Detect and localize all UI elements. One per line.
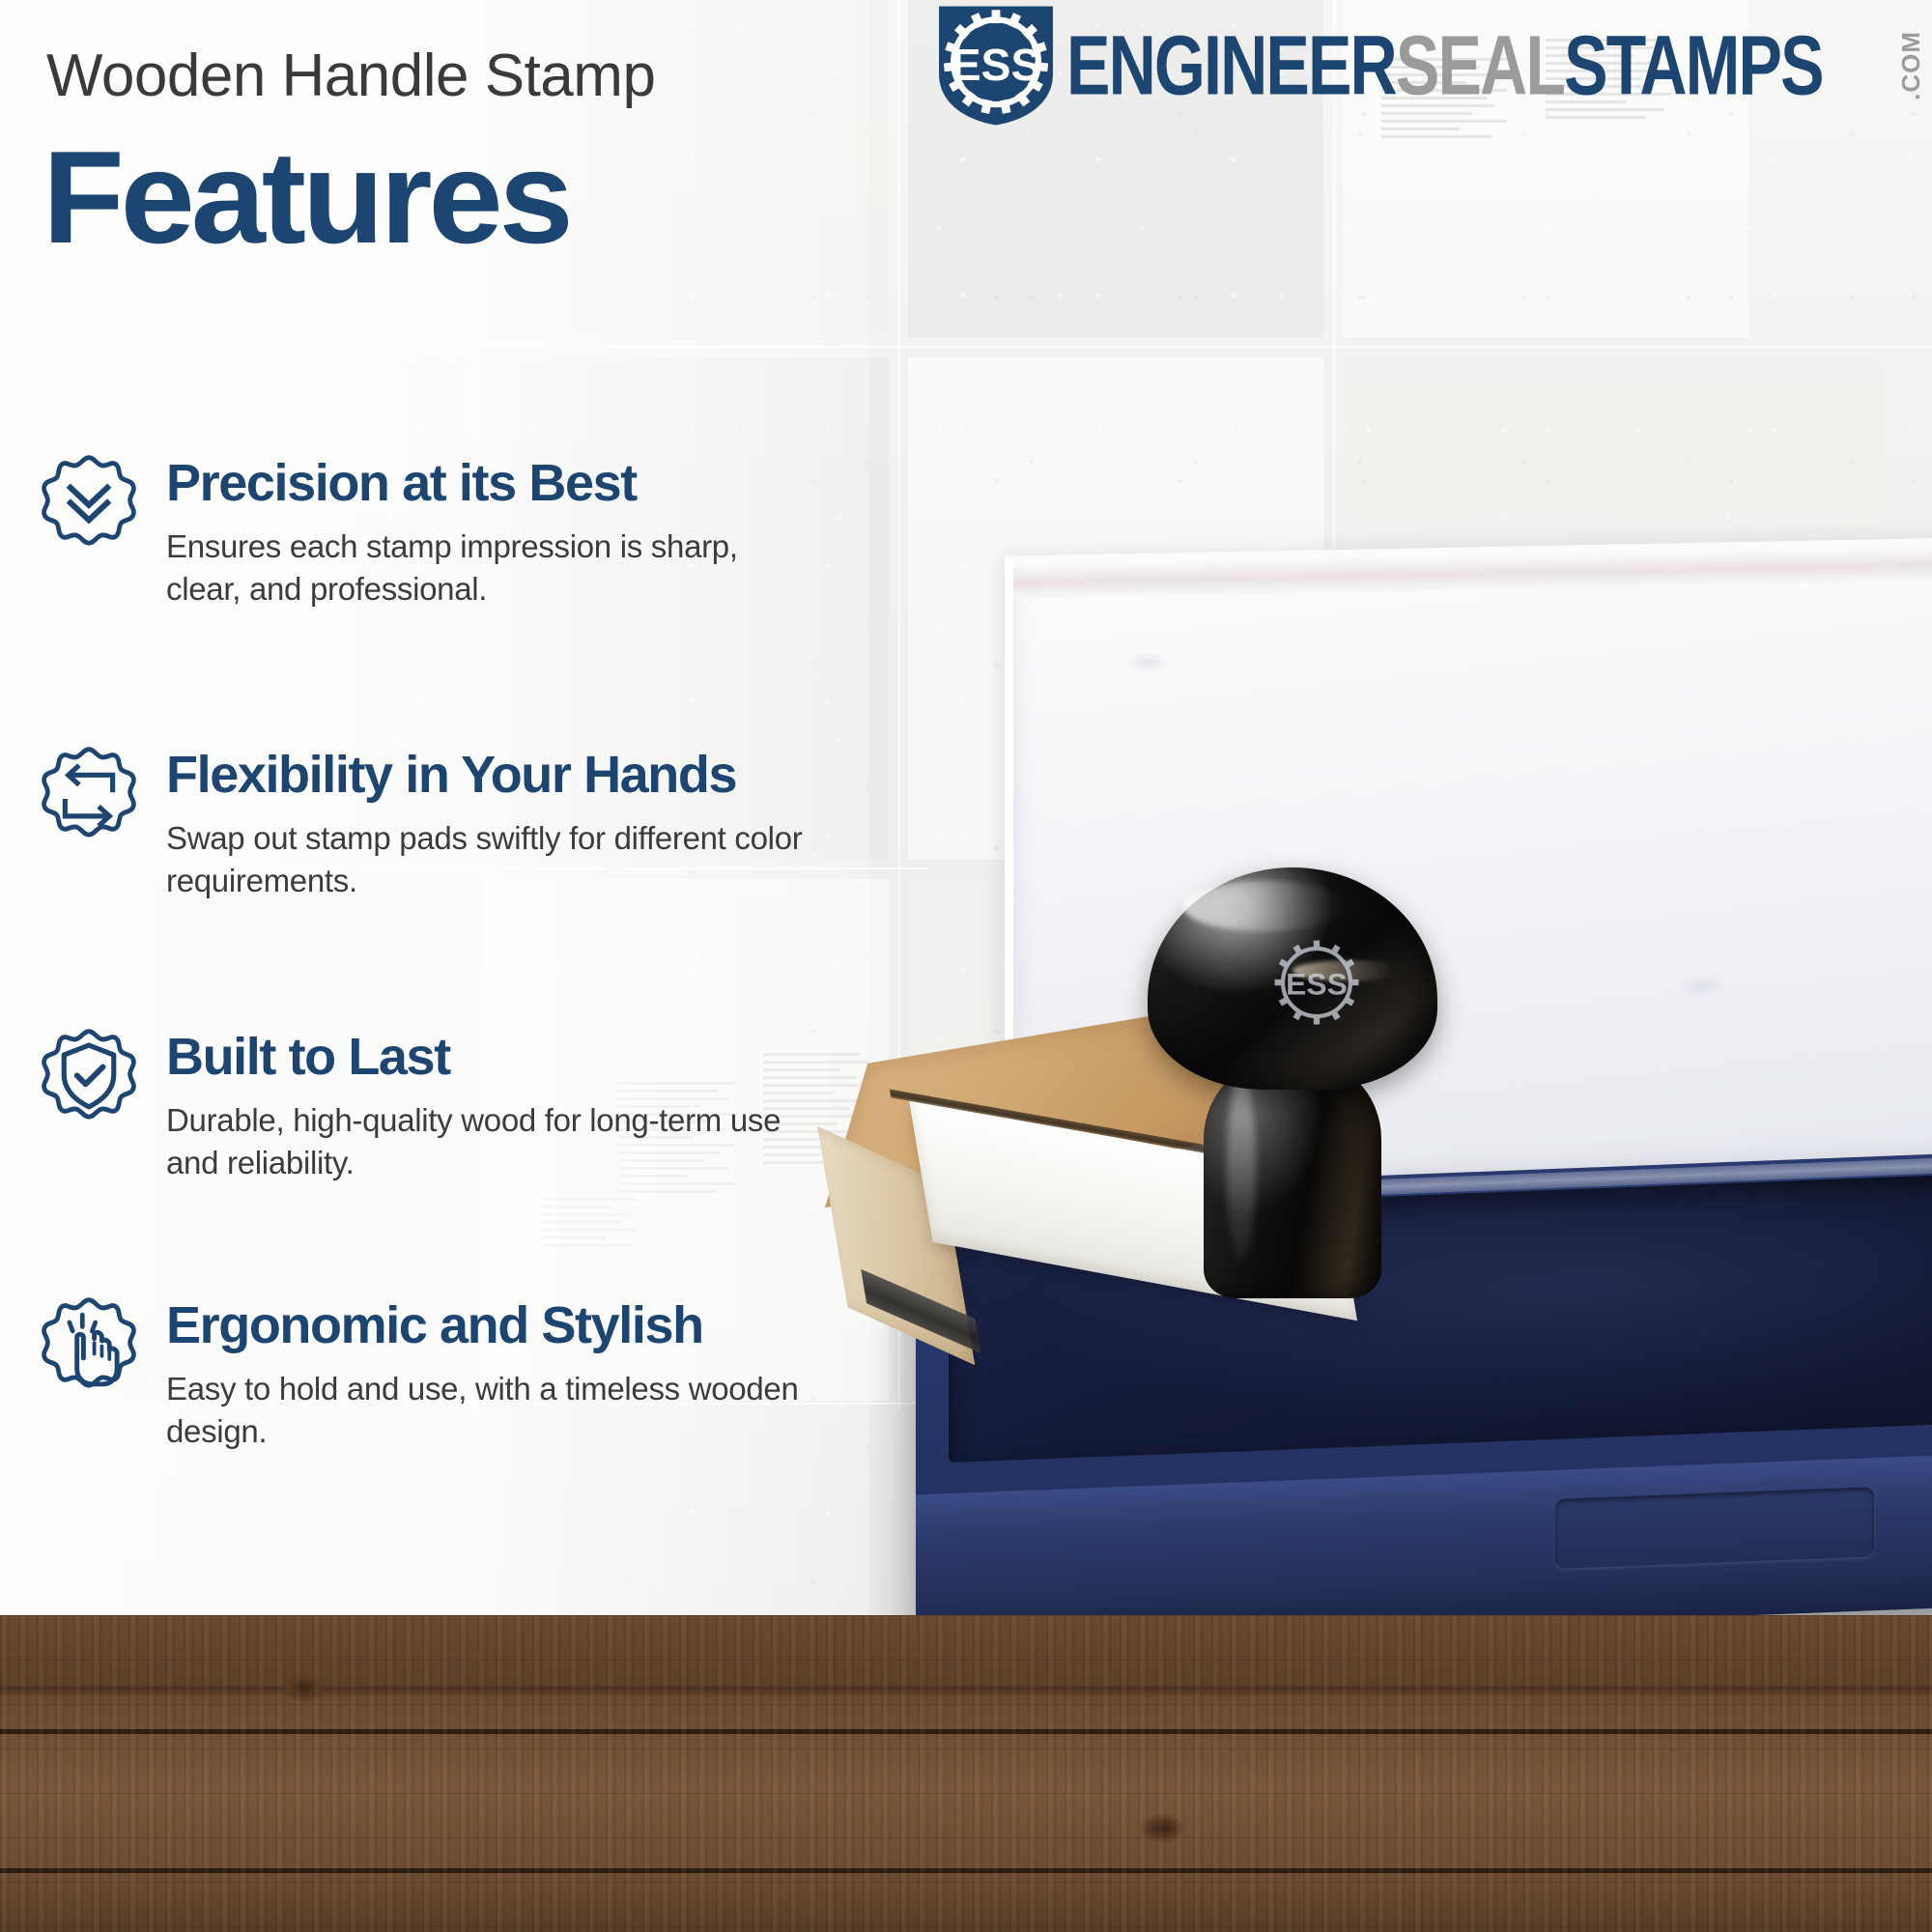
feature-description: Easy to hold and use, with a timeless wo… <box>166 1368 804 1452</box>
page-title: Features <box>43 131 570 263</box>
feature-title: Precision at its Best <box>166 456 904 510</box>
ess-gear-logo-icon: ESS <box>1265 931 1368 1034</box>
feature-description: Ensures each stamp impression is sharp, … <box>166 526 804 610</box>
brand-word-seal: SEAL <box>1396 23 1564 107</box>
wood-plank-seam <box>0 1729 1932 1734</box>
feature-text: Built to Last Durable, high-quality wood… <box>166 1026 904 1183</box>
brand-tld: .COM <box>1896 31 1926 100</box>
wood-plank-seam <box>0 1868 1932 1873</box>
handle-knob: ESS <box>1148 867 1437 1090</box>
lid-emboss-dot <box>1680 975 1724 997</box>
ess-shield-gear-icon: ESS <box>929 4 1063 128</box>
double-chevron-down-badge-icon <box>35 444 143 553</box>
logo-ess-text: ESS <box>952 40 1041 90</box>
feature-title: Ergonomic and Stylish <box>166 1298 904 1352</box>
brand-wordmark: ENGINEER SEAL STAMPS <box>1066 23 1823 107</box>
feature-item: Precision at its Best Ensures each stamp… <box>35 452 904 610</box>
feature-title: Built to Last <box>166 1030 904 1084</box>
feature-title: Flexibility in Your Hands <box>166 748 904 802</box>
feature-item: Flexibility in Your Hands Swap out stamp… <box>35 744 904 901</box>
feature-text: Precision at its Best Ensures each stamp… <box>166 452 904 610</box>
brand-word-stamps: STAMPS <box>1564 23 1823 107</box>
feature-text: Ergonomic and Stylish Easy to hold and u… <box>166 1294 904 1452</box>
brand-logo[interactable]: ESS ENGINEER SEAL STAMPS .COM <box>929 8 1926 124</box>
wood-knot <box>1140 1814 1184 1843</box>
handle-highlight <box>1182 881 1347 931</box>
wood-knot <box>282 1673 327 1702</box>
tap-hand-badge-icon <box>35 1287 143 1395</box>
handle-neck-highlight <box>1227 1072 1256 1262</box>
handle-neck <box>1204 1057 1381 1298</box>
feature-description: Durable, high-quality wood for long-term… <box>166 1099 804 1183</box>
handle-ess-text: ESS <box>1286 967 1348 1002</box>
page-kicker: Wooden Handle Stamp <box>46 46 655 106</box>
brand-word-engineer: ENGINEER <box>1066 23 1396 107</box>
stamp-handle: ESS <box>1148 867 1437 1283</box>
case-latch <box>1555 1487 1874 1569</box>
feature-item: Built to Last Durable, high-quality wood… <box>35 1026 904 1183</box>
case-lid-rim <box>1013 545 1932 598</box>
content-column: Wooden Handle Stamp Features Precision a… <box>0 0 927 1615</box>
feature-text: Flexibility in Your Hands Swap out stamp… <box>166 744 904 901</box>
poster-stage: ESS Wooden Handle Stamp Features Precis <box>0 0 1932 1932</box>
lid-emboss-dot <box>1125 651 1170 673</box>
wooden-table-surface <box>0 1615 1932 1932</box>
feature-item: Ergonomic and Stylish Easy to hold and u… <box>35 1294 904 1452</box>
feature-description: Swap out stamp pads swiftly for differen… <box>166 817 804 901</box>
shield-check-badge-icon <box>35 1018 143 1126</box>
swap-arrows-badge-icon <box>35 736 143 844</box>
